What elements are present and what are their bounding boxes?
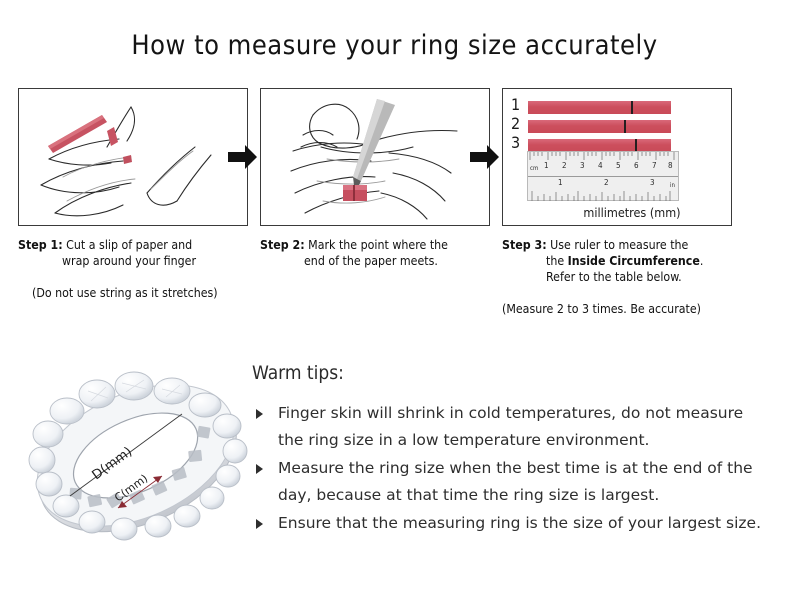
step-column-1: Step 1: Cut a slip of paper and wrap aro… bbox=[18, 88, 250, 301]
ruler-inch-label-2: 2 bbox=[604, 179, 609, 187]
step-2-line-1: Mark the point where the bbox=[308, 238, 448, 252]
warm-tips-heading: Warm tips: bbox=[252, 362, 772, 384]
right-arrow-icon bbox=[470, 144, 500, 170]
step-1-line-2: wrap around your finger bbox=[18, 253, 250, 269]
ruler-cm-label-4: 4 bbox=[598, 162, 603, 170]
ruler-inch-ticks bbox=[528, 189, 678, 201]
strip-1-bar bbox=[528, 101, 671, 114]
step-2-label: Step 2: bbox=[260, 238, 305, 252]
step-column-2: Step 2: Mark the point where the end of … bbox=[260, 88, 492, 269]
eternity-ring-icon: D(mm) C(mm) bbox=[22, 356, 254, 566]
warm-tip-text: Ensure that the measuring ring is the si… bbox=[278, 514, 761, 532]
step-1-illustration-panel bbox=[18, 88, 248, 226]
triangle-bullet-icon bbox=[256, 464, 263, 474]
warm-tip-item: Ensure that the measuring ring is the si… bbox=[252, 510, 772, 537]
steps-row: Step 1: Cut a slip of paper and wrap aro… bbox=[0, 88, 789, 338]
strip-1-mark bbox=[631, 101, 633, 114]
step-1-caption: Step 1: Cut a slip of paper and wrap aro… bbox=[18, 237, 250, 269]
arrow-step2-to-step3 bbox=[470, 144, 500, 170]
ruler-cm-label-1: 1 bbox=[544, 162, 549, 170]
ruler-graphic: cm 1 2 3 4 5 6 7 8 1 bbox=[527, 151, 679, 201]
strip-2-mark bbox=[624, 120, 626, 133]
strip-2-bar bbox=[528, 120, 671, 133]
ruler-cm-label-3: 3 bbox=[580, 162, 585, 170]
step-3-note: (Measure 2 to 3 times. Be accurate) bbox=[502, 301, 734, 317]
step-1-note: (Do not use string as it stretches) bbox=[18, 285, 250, 301]
triangle-bullet-icon bbox=[256, 519, 263, 529]
ruler-inch-label-1: 1 bbox=[558, 179, 563, 187]
step-3-label: Step 3: bbox=[502, 238, 547, 252]
warm-tip-item: Measure the ring size when the best time… bbox=[252, 455, 772, 509]
step-3-line-3: Refer to the table below. bbox=[502, 269, 734, 285]
step-3-line-2-post: . bbox=[700, 254, 704, 268]
ruler-cm-label-6: 6 bbox=[634, 162, 639, 170]
step-3-caption: Step 3: Use ruler to measure the the Ins… bbox=[502, 237, 734, 285]
step-3-line-1: Use ruler to measure the bbox=[550, 238, 688, 252]
ruler-cm-label-5: 5 bbox=[616, 162, 621, 170]
ruler-cm-label-8: 8 bbox=[668, 162, 673, 170]
step-2-line-2: end of the paper meets. bbox=[260, 253, 492, 269]
step-3-illustration-panel: 1 2 3 cm 1 2 bbox=[502, 88, 732, 226]
ruler-cm-ticks bbox=[528, 152, 678, 162]
ruler-cm-unit: cm bbox=[530, 165, 538, 173]
right-arrow-icon bbox=[228, 144, 258, 170]
step-2-illustration-panel bbox=[260, 88, 490, 226]
arrow-step1-to-step2 bbox=[228, 144, 258, 170]
warm-tip-item: Finger skin will shrink in cold temperat… bbox=[252, 400, 772, 454]
ruler-cm-label-2: 2 bbox=[562, 162, 567, 170]
lower-section: D(mm) C(mm) Warm tips: Finger skin will … bbox=[0, 348, 789, 606]
ruler-inch-label-3: 3 bbox=[650, 179, 655, 187]
step-2-caption: Step 2: Mark the point where the end of … bbox=[260, 237, 492, 269]
step-1-line-1: Cut a slip of paper and bbox=[66, 238, 192, 252]
strip-1-number: 1 bbox=[511, 97, 520, 113]
ring-diagram: D(mm) C(mm) bbox=[22, 356, 254, 566]
step-3-line-2: the Inside Circumference. bbox=[502, 253, 734, 269]
ruler-cm-label-7: 7 bbox=[652, 162, 657, 170]
step-column-3: 1 2 3 cm 1 2 bbox=[502, 88, 734, 317]
step-3-emphasis: Inside Circumference bbox=[568, 254, 700, 268]
ruler-cm-scale: cm 1 2 3 4 5 6 7 8 bbox=[528, 152, 678, 177]
warm-tip-text: Measure the ring size when the best time… bbox=[278, 459, 753, 504]
strip-3-number: 3 bbox=[511, 135, 520, 151]
page-title: How to measure your ring size accurately bbox=[0, 30, 789, 61]
step-1-label: Step 1: bbox=[18, 238, 63, 252]
warm-tips-section: Warm tips: Finger skin will shrink in co… bbox=[252, 362, 772, 538]
ruler-inch-scale: 1 2 3 in bbox=[528, 177, 678, 202]
ruler-unit-caption: millimetres (mm) bbox=[503, 205, 731, 220]
warm-tip-text: Finger skin will shrink in cold temperat… bbox=[278, 404, 743, 449]
step-3-line-2-pre: the bbox=[546, 254, 568, 268]
paper-strip-on-finger-shape bbox=[343, 185, 367, 201]
triangle-bullet-icon bbox=[256, 409, 263, 419]
strip-2-number: 2 bbox=[511, 116, 520, 132]
hand-marking-paper-icon bbox=[261, 89, 489, 225]
hand-with-paper-strip-icon bbox=[19, 89, 247, 225]
